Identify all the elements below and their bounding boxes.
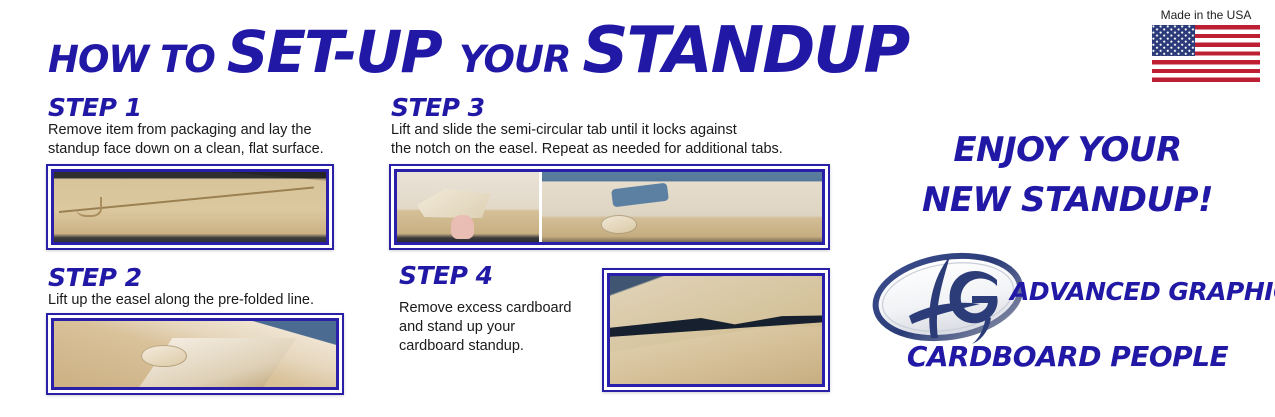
- step-3-title: STEP 3: [391, 93, 485, 122]
- step-2-photo-frame: [46, 313, 344, 395]
- step-4-title: STEP 4: [399, 261, 493, 290]
- flag-stars: [1152, 25, 1195, 56]
- photo-tab-hand-sliding: [397, 172, 539, 242]
- step-1-photo-inner: [51, 169, 329, 245]
- step-2-photo-inner: [51, 318, 339, 390]
- us-flag-icon: [1152, 25, 1260, 82]
- step-3-body: Lift and slide the semi-circular tab unt…: [391, 121, 841, 159]
- photo-excess-cardboard-removed: [610, 276, 822, 384]
- step-2-title: STEP 2: [48, 263, 142, 292]
- step-4-photo-frame: [602, 268, 830, 392]
- step-1-body: Remove item from packaging and lay the s…: [48, 121, 368, 159]
- step-3-photo-inner: [394, 169, 825, 245]
- page-title: HOW TO SET-UP YOUR STANDUP: [48, 14, 908, 88]
- step-3-photo-frame: [389, 164, 830, 250]
- enjoy-line-2: NEW STANDUP!: [860, 180, 1275, 220]
- step-1-title: STEP 1: [48, 93, 142, 122]
- step-2-body: Lift up the easel along the pre-folded l…: [48, 291, 378, 310]
- enjoy-line-1: ENJOY YOUR: [860, 130, 1275, 170]
- instruction-sheet: HOW TO SET-UP YOUR STANDUP Made in the U…: [0, 0, 1275, 417]
- page-title-part-2: SET-UP: [227, 18, 459, 86]
- page-title-part-3: YOUR: [459, 38, 582, 81]
- step-4-body: Remove excess cardboard and stand up you…: [399, 299, 599, 356]
- tagline: CARDBOARD PEOPLE: [860, 340, 1275, 373]
- made-in-usa-badge: Made in the USA: [1148, 8, 1264, 82]
- step-1-photo-frame: [46, 164, 334, 250]
- brand-name: ADVANCED GRAPHICS: [1010, 277, 1275, 306]
- photo-standup-face-down: [54, 172, 326, 242]
- step-4-photo-inner: [607, 273, 825, 387]
- ag-oval-logo-icon: [868, 250, 1028, 346]
- photo-tab-locked-notch: [542, 172, 822, 242]
- page-title-part-1: HOW TO: [48, 38, 227, 81]
- made-in-usa-label: Made in the USA: [1148, 8, 1264, 22]
- page-title-part-4: STANDUP: [582, 14, 908, 88]
- photo-easel-lifted: [54, 321, 336, 387]
